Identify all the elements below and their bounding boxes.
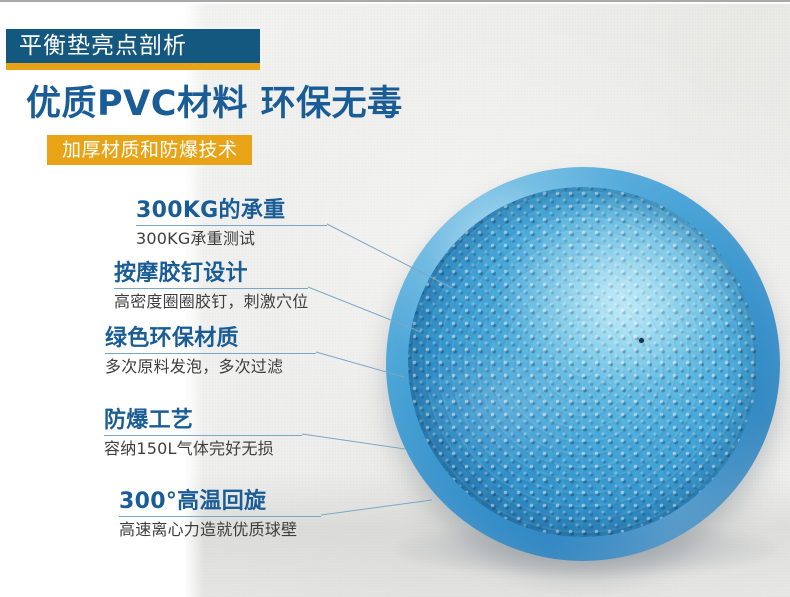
feature-description: 高密度圈圈胶钉，刺激穴位 bbox=[114, 289, 308, 313]
feature-title: 按摩胶钉设计 bbox=[114, 261, 308, 287]
product-image-balance-disc bbox=[386, 167, 780, 561]
feature-title: 防爆工艺 bbox=[104, 408, 302, 434]
subtitle-badge-text: 加厚材质和防爆技术 bbox=[62, 141, 238, 160]
feature-description: 300KG承重测试 bbox=[136, 226, 327, 250]
feature-description: 多次原料发泡，多次过滤 bbox=[105, 354, 316, 378]
feature-description: 高速离心力造就优质球壁 bbox=[119, 517, 321, 541]
page-title-text: 优质PVC材料 环保无毒 bbox=[26, 87, 403, 122]
feature-title: 300°高温回旋 bbox=[119, 489, 321, 515]
section-banner-underline bbox=[6, 63, 260, 70]
disc-textured-face bbox=[408, 187, 758, 537]
section-banner-title: 平衡垫亮点剖析 bbox=[6, 35, 187, 58]
feature-title: 300KG的承重 bbox=[136, 198, 327, 224]
feature-callout-4: 防爆工艺 容纳150L气体完好无损 bbox=[104, 408, 302, 460]
feature-callout-3: 绿色环保材质 多次原料发泡，多次过滤 bbox=[105, 326, 316, 378]
feature-title: 绿色环保材质 bbox=[105, 326, 316, 352]
feature-callout-1: 300KG的承重 300KG承重测试 bbox=[136, 198, 327, 250]
product-feature-infographic: 平衡垫亮点剖析 优质PVC材料 环保无毒 加厚材质和防爆技术 300KG的承重 … bbox=[0, 0, 790, 597]
subtitle-badge: 加厚材质和防爆技术 bbox=[47, 135, 252, 165]
feature-callout-2: 按摩胶钉设计 高密度圈圈胶钉，刺激穴位 bbox=[114, 261, 308, 313]
disc-body bbox=[386, 167, 780, 561]
feature-callout-5: 300°高温回旋 高速离心力造就优质球壁 bbox=[119, 489, 321, 541]
section-banner: 平衡垫亮点剖析 bbox=[6, 29, 260, 63]
disc-gloss-highlight bbox=[408, 187, 758, 537]
inflation-valve-icon bbox=[639, 338, 644, 343]
page-title: 优质PVC材料 环保无毒 bbox=[26, 81, 486, 127]
feature-description: 容纳150L气体完好无损 bbox=[104, 436, 302, 460]
